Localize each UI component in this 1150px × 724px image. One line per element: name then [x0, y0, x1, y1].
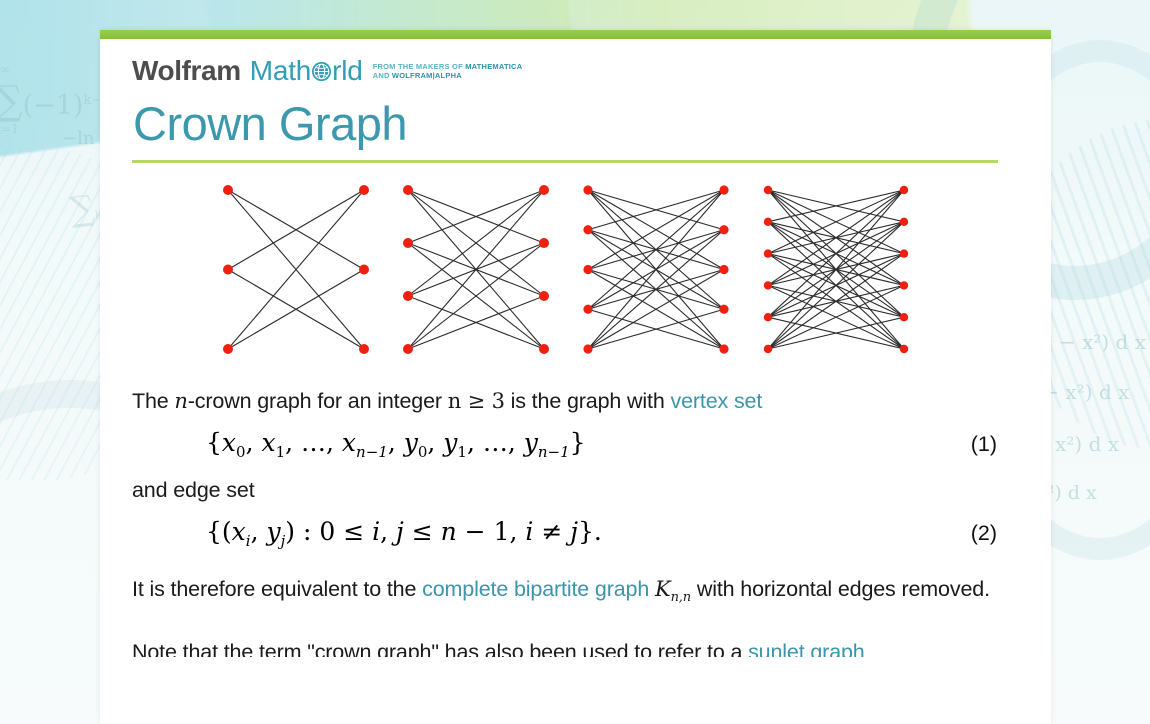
para1-text-3: is the graph with: [505, 389, 671, 413]
crown-graph-3: [206, 177, 386, 362]
background-formula-sum-upper: ∞: [0, 62, 10, 76]
equation-1-number: (1): [949, 432, 1019, 457]
para3-symbol-K: K: [655, 577, 671, 601]
paragraph-definition: The n-crown graph for an integer n ≥ 3 i…: [132, 382, 1019, 420]
globe-icon: [311, 61, 332, 82]
tagline-line-1: FROM THE MAKERS OF MATHEMATICA: [373, 62, 523, 71]
equation-2-row: {(xi, yj) : 0 ≤ i, j ≤ n − 1, i ≠ j}. (2…: [132, 517, 1019, 550]
para1-var-n: n: [174, 389, 187, 413]
para3-symbol-K-sub: n,n: [671, 590, 691, 605]
brand-wolfram: Wolfram: [132, 57, 241, 85]
equation-1-row: {x0, x1, …, xn−1, y0, y1, …, yn−1} (1): [132, 428, 1019, 461]
brand-mathworld: Math rld: [250, 57, 363, 85]
equation-2-body: {(xi, yj) : 0 ≤ i, j ≤ n − 1, i ≠ j}.: [132, 517, 949, 550]
background-formula-sum: ∞ ∑ k=1 (−1)k−1: [0, 78, 110, 124]
paragraph-edge-set: and edge set: [132, 471, 1019, 509]
paragraph-sunlet: Note that the term "crown graph" has als…: [132, 633, 1019, 657]
para1-text-2: -crown graph for an integer: [188, 389, 448, 413]
para1-inequality: n ≥ 3: [448, 389, 505, 413]
equation-2-number: (2): [949, 521, 1019, 546]
paragraph-bipartite: It is therefore equivalent to the comple…: [132, 570, 1019, 617]
link-vertex-set[interactable]: vertex set: [670, 389, 762, 413]
crown-graph-figure: [132, 177, 1019, 362]
background-formula-ln: −ln: [62, 128, 94, 149]
background-formula-sum-lower: k=1: [0, 122, 19, 136]
green-accent-bar: [100, 30, 1051, 39]
para1-text-1: The: [132, 389, 174, 413]
equation-1-body: {x0, x1, …, xn−1, y0, y1, …, yn−1}: [132, 428, 949, 461]
brand-math: Math: [250, 57, 311, 85]
background-formula-sum-body: (−1)k−1: [23, 90, 111, 121]
content-card: Wolfram Math rld FROM THE MAKERS OF MATH…: [100, 30, 1051, 724]
para3-text-3: with horizontal edges removed.: [691, 577, 990, 601]
brand-tagline: FROM THE MAKERS OF MATHEMATICA AND WOLFR…: [373, 62, 523, 85]
link-sunlet-graph[interactable]: sunlet graph: [748, 640, 865, 657]
page-title: Crown Graph: [133, 99, 1019, 148]
crown-graph-4: [386, 177, 566, 362]
brand-world: rld: [332, 57, 363, 85]
para3-text-1: It is therefore equivalent to the: [132, 577, 422, 601]
crown-graph-5: [566, 177, 746, 362]
crown-graph-6: [746, 177, 926, 362]
para4-text-1: Note that the term "crown graph" has als…: [132, 640, 748, 657]
link-complete-bipartite-graph[interactable]: complete bipartite graph: [422, 577, 649, 601]
title-divider: [132, 160, 998, 163]
tagline-line-2: AND WOLFRAM|ALPHA: [373, 71, 462, 80]
site-masthead[interactable]: Wolfram Math rld FROM THE MAKERS OF MATH…: [132, 39, 1019, 85]
